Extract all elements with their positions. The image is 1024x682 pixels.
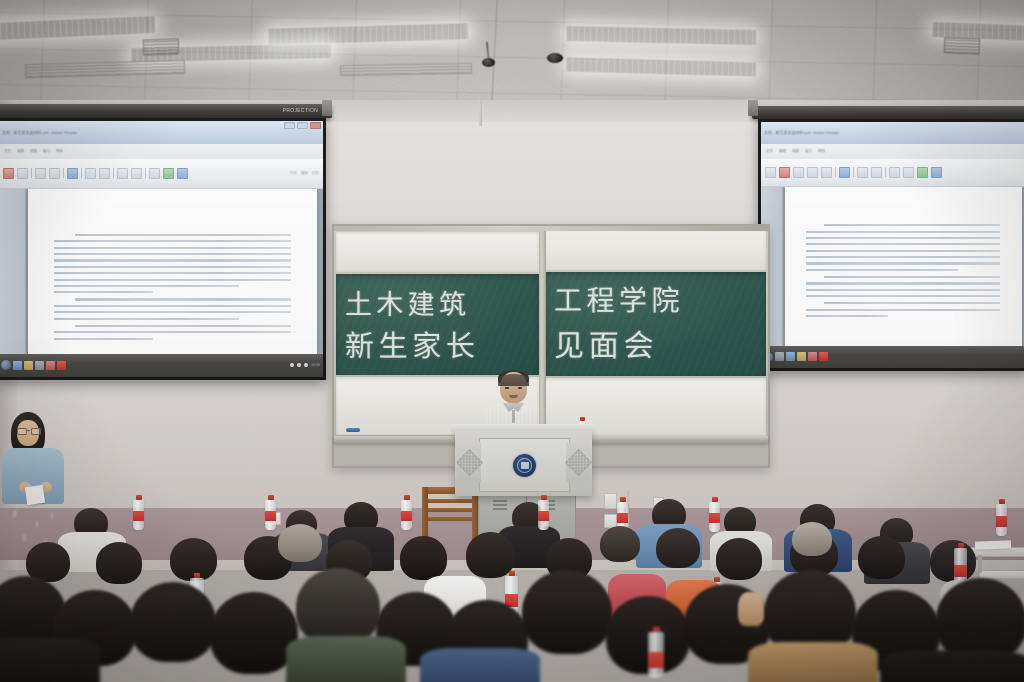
toolbar-label-print[interactable]: 打印 xyxy=(312,171,319,176)
menu-item-view[interactable]: 视图 xyxy=(792,149,799,154)
comment-icon[interactable] xyxy=(917,167,928,178)
bottle-label xyxy=(954,565,967,577)
document-text-line xyxy=(54,285,239,287)
toolbar-separator xyxy=(81,168,82,178)
zoom-out-icon[interactable] xyxy=(857,167,868,178)
tray-volume-icon[interactable] xyxy=(297,363,301,367)
speaker-mouth xyxy=(509,395,518,398)
fit-page-icon[interactable] xyxy=(117,168,128,179)
document-text-line xyxy=(54,311,291,313)
water-bottle xyxy=(401,500,412,530)
open-file-icon[interactable] xyxy=(765,167,776,178)
ceiling-sensor-icon xyxy=(482,58,495,67)
document-text-line xyxy=(806,256,1000,258)
audience-head xyxy=(858,536,905,579)
app-menubar[interactable]: 文件 编辑 视图 窗口 帮助 xyxy=(0,144,323,159)
system-tray[interactable]: 10:24 xyxy=(290,363,320,367)
minimize-icon[interactable] xyxy=(284,122,295,129)
document-text-line xyxy=(54,279,291,281)
email-icon[interactable] xyxy=(807,167,818,178)
speaker-hairline xyxy=(498,374,529,386)
ceiling-vent xyxy=(143,38,180,55)
chalk-text-left-line2: 新生家长 xyxy=(345,323,480,365)
bottle-label xyxy=(538,511,549,521)
fit-page-icon[interactable] xyxy=(889,167,900,178)
toolbar-separator xyxy=(835,167,836,177)
chalk-text-right-line2: 见面会 xyxy=(554,321,658,365)
ceiling-vent xyxy=(944,37,981,54)
menu-item-file[interactable]: 文件 xyxy=(4,149,11,154)
menu-item-window[interactable]: 窗口 xyxy=(43,149,50,154)
document-sidebar[interactable] xyxy=(0,189,26,354)
screen-surface-left: 文档 - 新生家长会材料.pdf - Adobe Reader 文件 编辑 视图… xyxy=(0,121,323,377)
bottle-cap-icon xyxy=(958,543,964,548)
document-text-line xyxy=(824,276,1001,278)
menu-item-view[interactable]: 视图 xyxy=(30,149,37,154)
housing-brand-label: PROJECTION xyxy=(283,108,318,114)
start-button-icon[interactable] xyxy=(1,360,11,370)
maximize-icon[interactable] xyxy=(297,122,308,129)
document-text-line xyxy=(806,262,1000,264)
water-bottle xyxy=(265,500,276,530)
audience-head-foreground xyxy=(296,568,380,646)
app-toolbar[interactable]: 打开 保存 打印 xyxy=(0,159,323,188)
zoom-in-icon[interactable] xyxy=(871,167,882,178)
water-bottle xyxy=(709,502,720,532)
document-paragraph xyxy=(806,224,1000,271)
glasses-lens-right xyxy=(31,428,41,435)
whiteboard-panel-top-right xyxy=(545,229,766,270)
bottle-label xyxy=(401,511,412,521)
projected-app-window-right: 文档 - 新生家长会材料.pdf - Adobe Reader 文件 编辑 视图… xyxy=(761,122,1024,368)
bottle-label xyxy=(133,511,144,521)
podium-diamond-ornament xyxy=(565,449,592,476)
document-text-line xyxy=(54,318,239,320)
bottle-cap-icon xyxy=(136,495,142,500)
projector-screen-housing-right xyxy=(752,106,1024,119)
tray-notification-icon[interactable] xyxy=(304,363,308,367)
audience-shoulders-foreground xyxy=(748,642,878,682)
bottle-cap-icon xyxy=(268,495,274,500)
eyeglasses-icon xyxy=(17,428,39,433)
bottle-cap-icon xyxy=(580,417,585,421)
taskbar-icon-pdf-reader[interactable] xyxy=(57,361,66,370)
toolbar-separator xyxy=(885,167,886,177)
fullscreen-icon[interactable] xyxy=(177,168,188,179)
speaker-shirt-placket xyxy=(512,410,515,423)
podium-desktop-surface xyxy=(451,424,596,431)
document-text-line xyxy=(54,247,291,249)
bottle-cap-icon xyxy=(999,499,1005,504)
close-icon[interactable] xyxy=(310,122,321,129)
document-text-line xyxy=(54,253,291,255)
water-bottle xyxy=(538,500,549,530)
os-taskbar[interactable] xyxy=(761,346,1024,368)
bottle-cap-icon xyxy=(541,495,547,500)
select-tool-icon[interactable] xyxy=(67,168,78,179)
emblem-center-mark xyxy=(521,462,529,469)
projected-app-window-left: 文档 - 新生家长会材料.pdf - Adobe Reader 文件 编辑 视图… xyxy=(0,121,323,377)
audience-shoulders-foreground xyxy=(420,648,540,682)
print-icon[interactable] xyxy=(793,167,804,178)
board-divider-horizontal xyxy=(334,226,768,231)
document-page xyxy=(28,189,316,354)
fit-width-icon[interactable] xyxy=(903,167,914,178)
os-taskbar[interactable]: 10:24 xyxy=(0,354,323,377)
audience-head xyxy=(400,536,447,580)
wall-conduit xyxy=(479,100,482,126)
whiteboard-panel-top-left xyxy=(336,232,539,272)
audience-head-foreground xyxy=(522,570,612,654)
menu-item-file[interactable]: 文件 xyxy=(766,149,773,154)
toolbar-label-save[interactable]: 保存 xyxy=(301,171,308,176)
fit-width-icon[interactable] xyxy=(131,168,142,179)
document-text-line xyxy=(54,291,153,293)
app-title-text: 文档 - 新生家长会材料.pdf - Adobe Reader xyxy=(764,130,839,136)
taskbar-icon-browser[interactable] xyxy=(13,361,22,370)
toolbar-label-open[interactable]: 打开 xyxy=(290,171,297,176)
projection-screen-right: 文档 - 新生家长会材料.pdf - Adobe Reader 文件 编辑 视图… xyxy=(758,119,1024,371)
document-viewport[interactable] xyxy=(0,189,323,354)
document-text-line xyxy=(806,295,1000,297)
speaker-eye-left xyxy=(505,387,509,389)
water-bottle xyxy=(996,504,1007,536)
app-menubar[interactable]: 文件 编辑 视图 窗口 帮助 xyxy=(761,144,1024,159)
menu-item-window[interactable]: 窗口 xyxy=(805,149,812,154)
rotate-icon[interactable] xyxy=(149,168,160,179)
chalk-text-left-line1: 土木建筑 xyxy=(345,283,470,322)
ceiling-vent xyxy=(340,63,472,76)
document-text-line xyxy=(54,259,291,261)
document-text-line xyxy=(75,325,290,327)
glasses-bridge xyxy=(26,430,30,431)
document-text-line xyxy=(806,237,1000,239)
audience-head xyxy=(930,540,976,582)
document-text-line xyxy=(806,269,957,271)
chalk-text-right-line1: 工程学院 xyxy=(554,279,684,319)
document-text-line xyxy=(54,305,291,307)
bottle-cap-icon xyxy=(712,497,718,502)
audience-shoulders-foreground xyxy=(880,650,1024,682)
audience-head xyxy=(466,532,515,578)
document-text-line xyxy=(806,315,888,317)
document-text-line xyxy=(54,240,291,242)
toolbar-separator xyxy=(113,168,114,178)
fullscreen-icon[interactable] xyxy=(931,167,942,178)
print-icon[interactable] xyxy=(35,168,46,179)
document-text-line xyxy=(54,266,291,268)
audience-head-gray-hair xyxy=(278,524,322,562)
document-paragraph xyxy=(806,302,1000,317)
screen-mount-bracket xyxy=(748,100,758,116)
comment-icon[interactable] xyxy=(163,168,174,179)
water-bottle xyxy=(648,632,664,678)
toolbar-separator xyxy=(63,168,64,178)
app-titlebar: 文档 - 新生家长会材料.pdf - Adobe Reader xyxy=(761,122,1024,144)
bottle-cap-icon xyxy=(194,573,200,578)
document-text-line xyxy=(806,231,1000,233)
taskbar-icon-pdf-reader[interactable] xyxy=(819,352,828,361)
document-text-line xyxy=(54,272,291,274)
bottle-cap-icon xyxy=(653,627,660,632)
lecture-hall-photo: PROJECTION 文档 - 新生家长会材料.pdf - Adobe Read… xyxy=(0,0,1024,682)
app-title-text: 文档 - 新生家长会材料.pdf - Adobe Reader xyxy=(2,130,77,136)
bottle-label xyxy=(996,516,1007,527)
open-file-icon[interactable] xyxy=(3,168,14,179)
screen-surface-right: 文档 - 新生家长会材料.pdf - Adobe Reader 文件 编辑 视图… xyxy=(761,122,1024,368)
taskbar-icon-browser[interactable] xyxy=(786,352,795,361)
raised-hand xyxy=(738,592,764,626)
app-toolbar[interactable] xyxy=(761,159,1024,187)
bottle-label xyxy=(617,513,628,523)
audience-head xyxy=(600,526,640,562)
taskbar-clock[interactable]: 10:24 xyxy=(311,363,320,367)
document-text-line xyxy=(806,289,1000,291)
window-controls[interactable] xyxy=(284,122,321,129)
podium-wing-left xyxy=(457,442,481,482)
taskbar-icon-app[interactable] xyxy=(35,361,44,370)
bottle-cap-icon xyxy=(620,497,626,502)
document-text-line xyxy=(806,282,1000,284)
taskbar-icon-media[interactable] xyxy=(46,361,55,370)
document-text-line xyxy=(54,338,153,340)
audience-head-foreground xyxy=(130,582,216,662)
document-text-line xyxy=(54,331,291,333)
podium-wing-right xyxy=(566,442,590,482)
audience-head xyxy=(716,538,762,580)
bottle-label xyxy=(709,513,720,523)
email-icon[interactable] xyxy=(49,168,60,179)
document-viewport[interactable] xyxy=(761,187,1024,346)
document-paragraph xyxy=(54,325,291,340)
toolbar-separator xyxy=(31,168,32,178)
menu-item-help[interactable]: 帮助 xyxy=(818,149,825,154)
document-text-line xyxy=(824,302,1001,304)
audience-head xyxy=(656,528,700,568)
save-icon[interactable] xyxy=(17,168,28,179)
taskbar-icon-app[interactable] xyxy=(775,352,784,361)
document-paragraph xyxy=(806,276,1000,297)
audience-head-foreground xyxy=(210,592,298,674)
audience-seating-area xyxy=(0,480,1024,682)
water-bottle xyxy=(954,548,967,584)
document-text-line xyxy=(806,309,1000,311)
document-text-line xyxy=(75,234,290,236)
document-text-line xyxy=(806,243,1000,245)
save-icon[interactable] xyxy=(779,167,790,178)
taskbar-icon-folder[interactable] xyxy=(797,352,806,361)
tray-network-icon[interactable] xyxy=(290,363,294,367)
taskbar-icon-media[interactable] xyxy=(808,352,817,361)
screen-mount-bracket xyxy=(322,100,332,116)
zoom-out-icon[interactable] xyxy=(85,168,96,179)
select-tool-icon[interactable] xyxy=(839,167,850,178)
taskbar-icon-folder[interactable] xyxy=(24,361,33,370)
app-titlebar: 文档 - 新生家长会材料.pdf - Adobe Reader xyxy=(0,121,323,144)
audience-shoulders-foreground xyxy=(0,638,100,682)
document-text-line xyxy=(824,224,1001,226)
bottle-cap-icon xyxy=(509,571,515,576)
projector-screen-housing-left: PROJECTION xyxy=(0,104,332,118)
document-paragraph xyxy=(54,298,291,319)
water-bottle xyxy=(133,500,144,530)
speaker-eye-right xyxy=(518,387,522,389)
bottle-cap-icon xyxy=(404,495,410,500)
document-paragraph xyxy=(54,234,291,294)
menu-item-edit[interactable]: 编辑 xyxy=(779,149,786,154)
zoom-in-icon[interactable] xyxy=(99,168,110,179)
audience-head xyxy=(96,542,142,584)
audience-shoulders-foreground xyxy=(286,636,406,682)
bottle-label xyxy=(265,511,276,521)
audience-head-gray-hair xyxy=(792,522,832,556)
document-text-line xyxy=(75,298,290,300)
document-page xyxy=(785,187,1022,346)
whiteboard-marker[interactable] xyxy=(346,428,360,432)
document-text-line xyxy=(806,250,1000,252)
toolbar-separator xyxy=(853,167,854,177)
projection-screen-left: 文档 - 新生家长会材料.pdf - Adobe Reader 文件 编辑 视图… xyxy=(0,118,326,380)
menu-item-edit[interactable]: 编辑 xyxy=(17,149,24,154)
menu-item-help[interactable]: 帮助 xyxy=(56,149,63,154)
toolbar-separator xyxy=(145,168,146,178)
university-crest-emblem xyxy=(513,454,536,477)
ceiling-sensor-icon xyxy=(547,53,563,63)
podium-diamond-ornament xyxy=(456,449,483,476)
share-icon[interactable] xyxy=(821,167,832,178)
bottle-label xyxy=(648,652,664,668)
toolbar-right-group[interactable]: 打开 保存 打印 xyxy=(290,171,319,176)
